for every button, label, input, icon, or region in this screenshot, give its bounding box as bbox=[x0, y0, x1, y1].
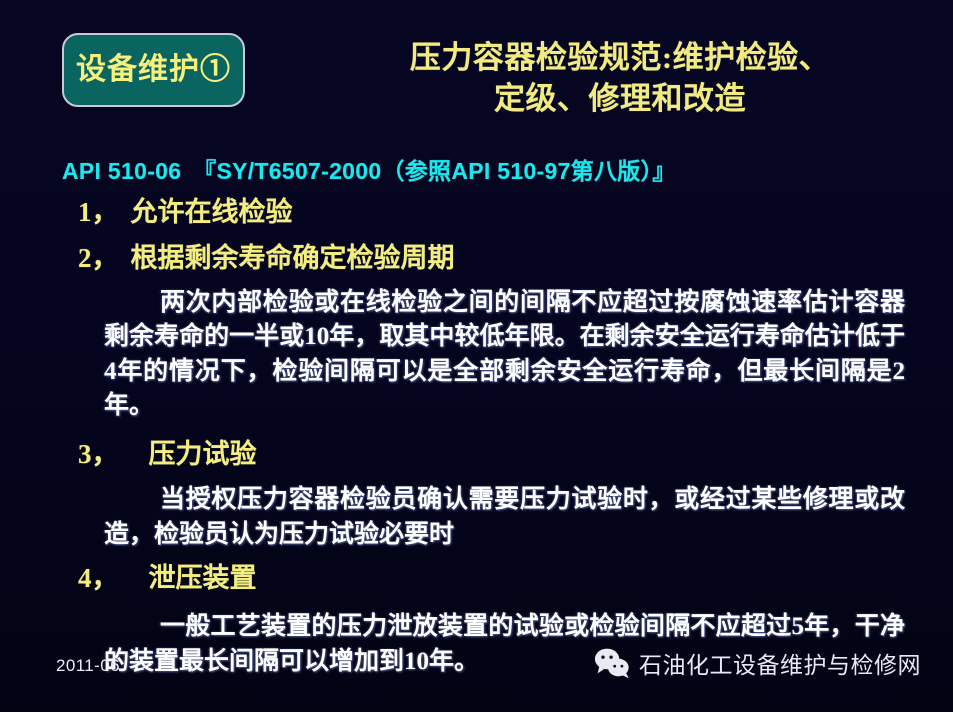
slide-body: 1，允许在线检验 2，根据剩余寿命确定检验周期 两次内部检验或在线检验之间的间隔… bbox=[0, 196, 953, 679]
list-item-number-4: 4， bbox=[78, 563, 119, 593]
standard-reference-subtitle: API 510-06 『SY/T6507-2000（参照API 510-97第八… bbox=[62, 152, 676, 186]
list-item-number-1: 1， bbox=[78, 197, 119, 227]
section-badge: 设备维护① bbox=[62, 33, 245, 107]
list-item-label-2: 根据剩余寿命确定检验周期 bbox=[131, 243, 455, 273]
section-badge-label: 设备维护① bbox=[76, 55, 231, 85]
slide-title-line-1: 压力容器检验规范:维护检验、 bbox=[300, 38, 940, 79]
slide-canvas: 设备维护① 压力容器检验规范:维护检验、 定级、修理和改造 API 510-06… bbox=[0, 0, 953, 712]
list-item-label-1: 允许在线检验 bbox=[131, 197, 293, 227]
slide-title-line-2: 定级、修理和改造 bbox=[300, 79, 940, 120]
list-item-paragraph-3: 当授权压力容器检验员确认需要压力试验时，或经过某些修理或改造，检验员认为压力试验… bbox=[0, 483, 953, 552]
list-item-heading-3: 3，压力试验 bbox=[0, 438, 953, 472]
list-item-paragraph-2: 两次内部检验或在线检验之间的间隔不应超过按腐蚀速率估计容器剩余寿命的一半或10年… bbox=[0, 286, 953, 424]
watermark: 石油化工设备维护与检修网 bbox=[594, 646, 921, 680]
wechat-icon bbox=[594, 648, 630, 678]
list-item-number-2: 2， bbox=[78, 243, 119, 273]
list-item-heading-1: 1，允许在线检验 bbox=[0, 196, 953, 230]
list-item-heading-2: 2，根据剩余寿命确定检验周期 bbox=[0, 242, 953, 276]
watermark-label: 石油化工设备维护与检修网 bbox=[639, 646, 921, 680]
date-stamp: 2011-06 bbox=[56, 656, 120, 676]
slide-title: 压力容器检验规范:维护检验、 定级、修理和改造 bbox=[300, 38, 940, 120]
list-item-number-3: 3， bbox=[78, 439, 119, 469]
list-item-label-3: 压力试验 bbox=[149, 439, 257, 469]
list-item-label-4: 泄压装置 bbox=[149, 563, 257, 593]
list-item-heading-4: 4，泄压装置 bbox=[0, 562, 953, 596]
